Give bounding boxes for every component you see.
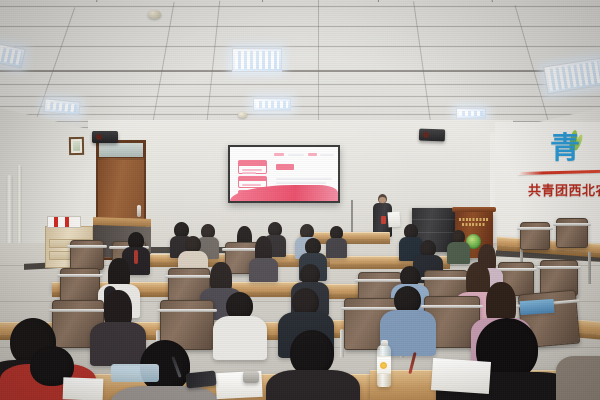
smoke-detector-icon [238,112,247,118]
wall-organization-title: 共青团西北农 [528,180,600,199]
smoke-detector-icon [148,10,161,19]
classroom-photo: 青 共青团西北农 [0,0,600,400]
cabinet-items [47,216,81,228]
chair[interactable] [70,240,104,270]
youth-league-logo: 青 [550,134,586,168]
slide-pill-label [276,164,294,170]
booklet[interactable] [520,299,555,315]
bottle-cap [381,340,388,346]
ceiling [0,0,600,136]
wall-speaker [419,129,445,142]
note-sheet [431,358,491,394]
wall-speaker [92,131,118,143]
projection-screen[interactable] [228,145,340,203]
note-sheet [63,377,104,400]
logo-character: 青 [550,134,579,164]
bottle-label [377,356,391,374]
ceiling-light-panel [232,48,282,72]
presenter-handout [387,212,400,228]
smartphone[interactable] [185,370,216,388]
ceiling-light-panel [456,108,486,119]
ceiling-light-panel [543,58,600,95]
ceiling-light-panel [0,43,26,68]
pencil-case[interactable] [111,364,159,382]
door-transom-window [98,142,144,158]
framed-picture [69,137,84,155]
door-handle[interactable] [137,205,141,217]
cup[interactable] [243,371,259,383]
slide-content [230,147,338,201]
ceiling-light-panel [253,98,291,111]
slide-card [238,160,267,174]
chair[interactable] [520,222,550,250]
chair[interactable] [60,268,100,304]
chair[interactable] [556,218,588,248]
